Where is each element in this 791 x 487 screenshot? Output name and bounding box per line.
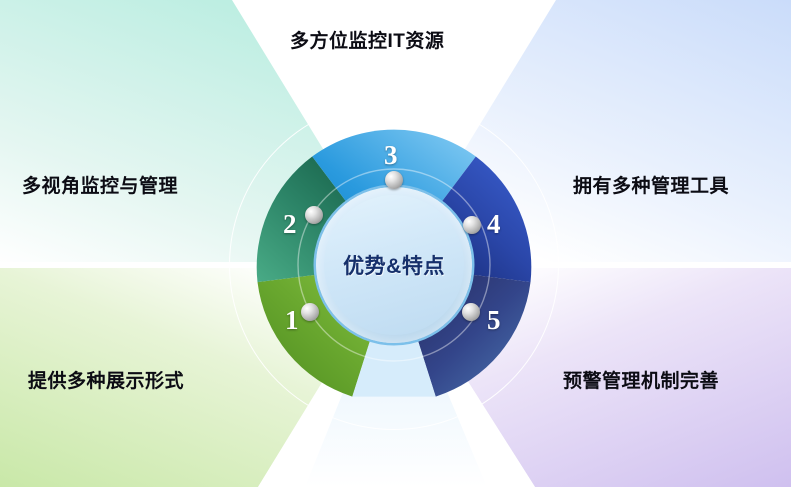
center-hub-inner: 优势&特点	[324, 195, 464, 335]
label-right-upper: 拥有多种管理工具	[573, 171, 729, 198]
label-right-lower: 预警管理机制完善	[563, 366, 719, 393]
infographic-canvas: 优势&特点 1 2 3 4 5 多方位监控IT资源 多视角监控与管理 提供多种展…	[0, 0, 791, 487]
center-hub: 优势&特点	[316, 187, 472, 343]
label-top: 多方位监控IT资源	[290, 26, 444, 53]
center-label: 优势&特点	[343, 250, 445, 280]
silver-knob-icon-1	[301, 303, 319, 321]
silver-knob-icon-5	[462, 303, 480, 321]
silver-knob-icon-3	[385, 171, 403, 189]
label-left-lower: 提供多种展示形式	[28, 366, 184, 393]
label-left-upper: 多视角监控与管理	[22, 171, 178, 198]
silver-knob-icon-4	[463, 216, 481, 234]
silver-knob-icon-2	[305, 206, 323, 224]
